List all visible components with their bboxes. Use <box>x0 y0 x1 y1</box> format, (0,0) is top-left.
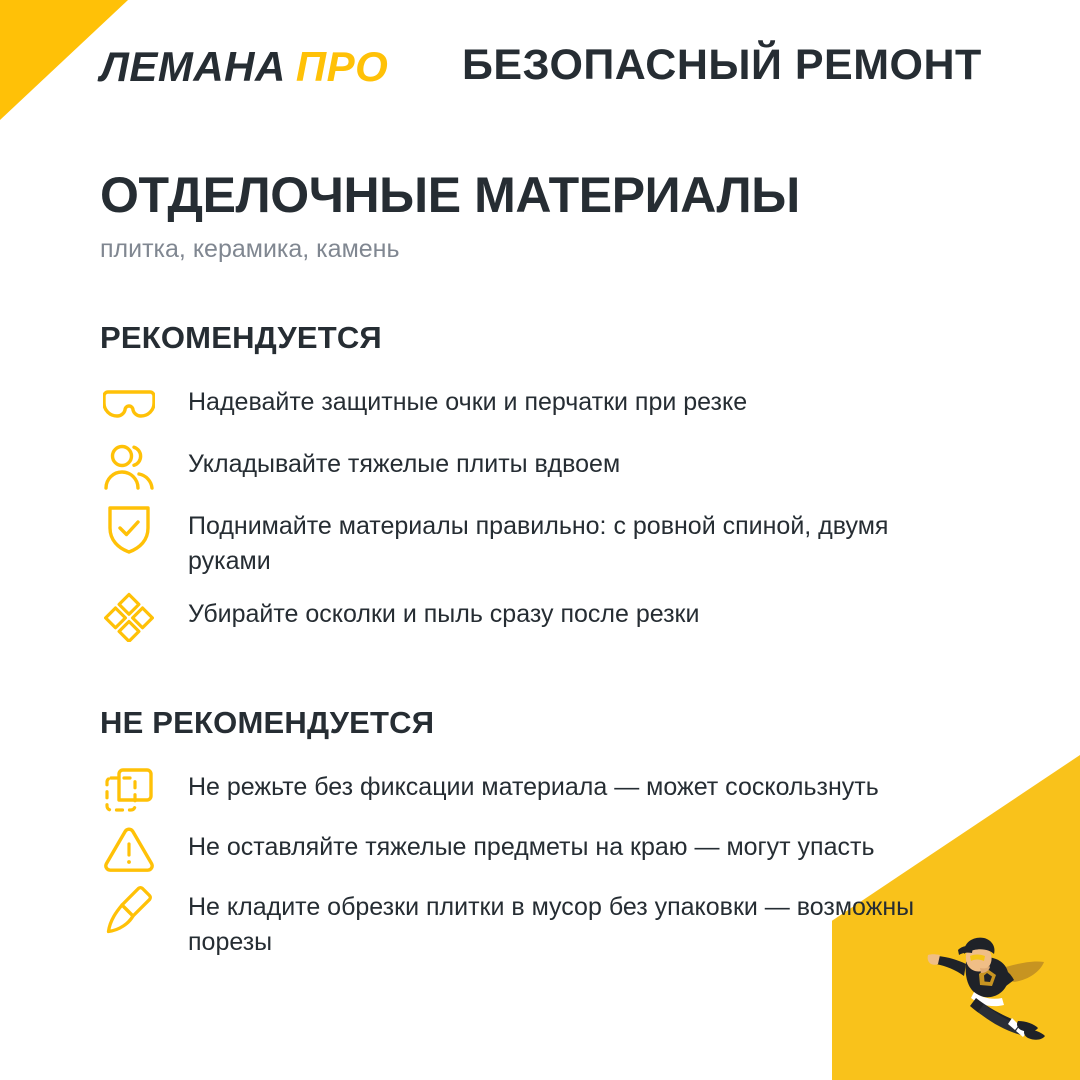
safety-goggles-icon <box>100 381 158 429</box>
list-item-text: Не оставляйте тяжелые предметы на краю —… <box>188 828 874 865</box>
section-heading-not-recommended: НЕ РЕКОМЕНДУЕТСЯ <box>100 707 980 738</box>
section-not-recommended: НЕ РЕКОМЕНДУЕТСЯ Не режьте без фиксации … <box>100 707 980 960</box>
list-item-text: Не кладите обрезки плитки в мусор без уп… <box>188 888 948 960</box>
section-heading-recommended: РЕКОМЕНДУЕТСЯ <box>100 322 980 353</box>
list-item: Надевайте защитные очки и перчатки при р… <box>100 383 980 429</box>
knife-icon <box>100 886 158 934</box>
list-item-text: Не режьте без фиксации материала — может… <box>188 768 879 805</box>
page-subtitle: плитка, керамика, камень <box>100 234 980 264</box>
list-item: Не кладите обрезки плитки в мусор без уп… <box>100 888 980 960</box>
list-item-text: Поднимайте материалы правильно: с ровной… <box>188 507 968 579</box>
list-item: Не режьте без фиксации материала — может… <box>100 768 980 814</box>
warning-triangle-icon <box>100 826 158 874</box>
brand-logo-accent: ПРО <box>296 43 388 90</box>
list-item-text: Надевайте защитные очки и перчатки при р… <box>188 383 747 420</box>
poster-header: ЛЕМАНАПРО БЕЗОПАСНЫЙ РЕМОНТ <box>0 0 1080 140</box>
page-title: ОТДЕЛОЧНЫЕ МАТЕРИАЛЫ <box>100 168 980 222</box>
list-item: Убирайте осколки и пыль сразу после резк… <box>100 595 980 641</box>
list-item: Укладывайте тяжелые плиты вдвоем <box>100 445 980 491</box>
section-recommended: РЕКОМЕНДУЕТСЯ Надевайте защитные очки и … <box>100 322 980 641</box>
list-item: Поднимайте материалы правильно: с ровной… <box>100 507 980 579</box>
two-people-icon <box>100 443 158 491</box>
campaign-title: БЕЗОПАСНЫЙ РЕМОНТ <box>462 44 982 87</box>
list-item-text: Убирайте осколки и пыль сразу после резк… <box>188 595 699 632</box>
list-item: Не оставляйте тяжелые предметы на краю —… <box>100 828 980 874</box>
poster-body: ОТДЕЛОЧНЫЕ МАТЕРИАЛЫ плитка, керамика, к… <box>100 168 980 974</box>
unfixed-square-icon <box>100 766 158 814</box>
four-diamonds-icon <box>100 593 158 641</box>
poster-canvas: ЛЕМАНАПРО БЕЗОПАСНЫЙ РЕМОНТ ОТДЕЛОЧНЫЕ М… <box>0 0 1080 1080</box>
list-item-text: Укладывайте тяжелые плиты вдвоем <box>188 445 620 482</box>
flying-superhero-mascot <box>918 928 1058 1046</box>
shield-check-icon <box>100 505 158 553</box>
brand-logo: ЛЕМАНАПРО <box>100 46 388 88</box>
brand-logo-main: ЛЕМАНА <box>100 43 286 90</box>
